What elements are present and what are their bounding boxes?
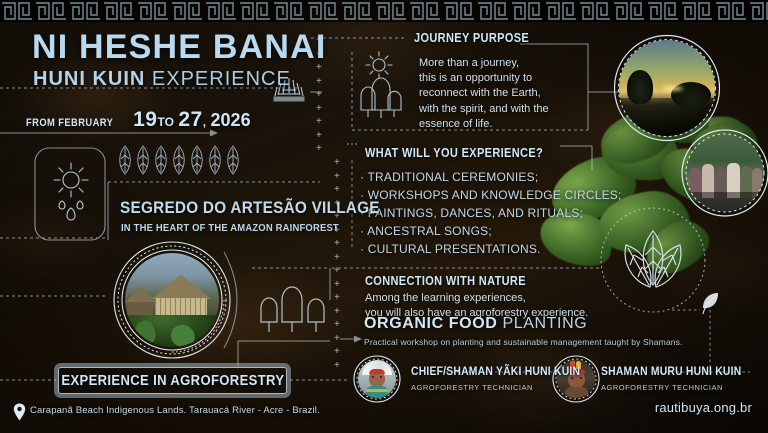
organic-food-planting-heading: ORGANIC FOOD PLANTING (364, 315, 587, 333)
date-comma: , (203, 115, 206, 129)
date-day-end: 27 (178, 108, 202, 131)
poster-canvas: +++++++++ ++++++++++++++++ (0, 0, 768, 433)
village-name: SEGREDO DO ARTESÃO VILLAGE (120, 198, 380, 218)
date-joiner: TO (157, 115, 173, 129)
person-1-name: SHAMAN MURU HUNI KUIN (601, 366, 741, 378)
shaman-yaki-portrait (358, 360, 396, 398)
person-0-role: AGROFORESTRY TECHNICIAN (411, 383, 533, 392)
experience-item-1: · WORKSHOPS AND KNOWLEDGE CIRCLES; (360, 186, 622, 204)
experience-list: · TRADITIONAL CEREMONIES; · WORKSHOPS AN… (360, 168, 622, 258)
journey-line-4: essence of life. (419, 117, 549, 132)
plus-marks-column-right: ++++++++++++++++ (334, 156, 340, 372)
group-of-people-photo (686, 134, 764, 212)
page-subtitle: HUNI KUIN EXPERIENCE (33, 68, 291, 91)
leaf-row-icons (116, 144, 242, 178)
experience-item-3: · ANCESTRAL SONGS; (360, 222, 622, 240)
event-date: FROM FEBRUARY 19TO 27, 2026 (26, 108, 251, 132)
organic-bold: ORGANIC FOOD (364, 315, 497, 332)
three-trees-icon (255, 272, 333, 334)
journey-purpose-text: More than a journey, this is an opportun… (419, 56, 549, 132)
date-day-start: 19 (133, 108, 157, 131)
subtitle-light: EXPERIENCE (152, 68, 291, 90)
sunset-over-forest-photo (619, 40, 715, 136)
leaf-sprout-icon (698, 290, 722, 316)
journey-line-3: with the spirit, and with the (419, 102, 549, 117)
journey-line-1: this is an opportunity to (419, 71, 549, 86)
person-0-name: CHIEF/SHAMAN YÃKI HUNI KUIN (411, 366, 580, 378)
journey-purpose-heading: JOURNEY PURPOSE (414, 31, 529, 45)
sun-and-trees-icon (348, 48, 410, 120)
agroforestry-badge-label: EXPERIENCE IN AGROFORESTRY (61, 373, 284, 389)
page-title: NI HESHE BANAI (32, 28, 327, 67)
person-1-role: AGROFORESTRY TECHNICIAN (601, 383, 723, 392)
village-huts-photo (125, 253, 219, 347)
experience-item-4: · CULTURAL PRESENTATIONS. (360, 240, 622, 258)
village-subtitle: IN THE HEART OF THE AMAZON RAINFOREST (121, 222, 339, 234)
agroforestry-badge: EXPERIENCE IN AGROFORESTRY (58, 367, 287, 394)
experience-item-2: · PAINTINGS, DANCES, AND RITUALS; (360, 204, 622, 222)
footer-website[interactable]: rautibuya.ong.br (655, 400, 752, 415)
experience-heading: WHAT WILL YOU EXPERIENCE? (365, 146, 543, 160)
journey-line-0: More than a journey, (419, 56, 549, 71)
kene-border-pattern (0, 0, 768, 22)
nature-line-0: Among the learning experiences, (365, 291, 588, 306)
subtitle-bold: HUNI KUIN (33, 68, 145, 90)
nature-heading: CONNECTION WITH NATURE (365, 274, 526, 288)
organic-subtitle: Practical workshop on planting and susta… (364, 337, 683, 347)
map-pin-icon (13, 403, 26, 421)
experience-item-0: · TRADITIONAL CEREMONIES; (360, 168, 622, 186)
footer-address: Carapanã Beach Indigenous Lands. Tarauac… (30, 405, 320, 416)
date-year: 2026 (211, 110, 251, 130)
organic-light: PLANTING (502, 315, 587, 332)
sun-and-raindrops-icon (48, 158, 94, 232)
date-prefix: FROM FEBRUARY (26, 117, 113, 129)
journey-line-2: reconnect with the Earth, (419, 86, 549, 101)
